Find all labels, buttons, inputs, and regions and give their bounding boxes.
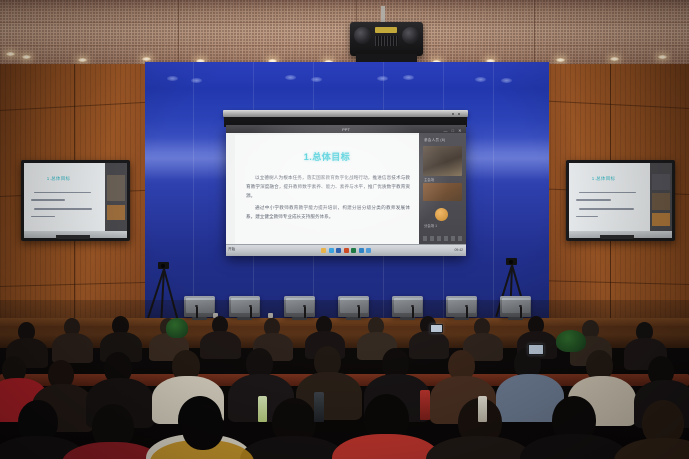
raised-phone	[528, 344, 544, 355]
participant-thumbnail[interactable]	[423, 183, 462, 201]
projection-screen-housing	[223, 110, 468, 117]
right-monitor-screen: 1.总体目标	[569, 163, 672, 238]
left-wall-monitor[interactable]: 1.总体目标	[21, 160, 130, 241]
explorer-icon[interactable]	[321, 248, 326, 253]
downlight	[6, 52, 15, 56]
word-icon[interactable]	[336, 248, 341, 253]
slide-paragraph: 以立德树人为根本任务，落实国家教育数字化战略行动，推进信息技术与教育教学深度融合…	[246, 173, 410, 200]
water-bottle	[478, 396, 487, 422]
decorative-plant	[166, 318, 188, 338]
participants-header: 参会人员 (8)	[424, 138, 445, 143]
windows-taskbar[interactable]: 开始 09:42	[226, 244, 466, 256]
downlight	[142, 57, 151, 61]
water-bottle	[258, 396, 267, 422]
slide-content-area: 1.总体目标 以立德树人为根本任务，落实国家教育数字化战略行动，推进信息技术与教…	[235, 135, 419, 245]
ceiling-projector	[350, 22, 423, 56]
projector-label	[375, 27, 397, 33]
powerpoint-icon[interactable]	[344, 248, 349, 253]
right-monitor-slide-title: 1.总体目标	[592, 176, 616, 182]
projection-screen[interactable]: PPT — □ ✕ 1.总体目标 以立德树人为根本任务，落实国家教育数字化战略行…	[226, 125, 466, 256]
ceiling-grain-texture	[0, 0, 689, 66]
downlight	[610, 57, 619, 61]
excel-icon[interactable]	[351, 248, 356, 253]
browser-icon[interactable]	[329, 248, 334, 253]
participant-avatar	[435, 208, 448, 221]
window-controls[interactable]: — □ ✕	[444, 128, 464, 133]
slide-title: 1.总体目标	[235, 150, 419, 163]
audience-shoulders	[52, 333, 93, 363]
ceiling-panel	[0, 0, 689, 66]
left-monitor-stand	[56, 235, 90, 239]
downlight	[22, 55, 31, 59]
meeting-icon[interactable]	[359, 248, 364, 253]
thermos-bottle	[314, 392, 324, 422]
thermos-bottle	[420, 390, 430, 420]
left-monitor-slide-title: 1.总体目标	[47, 176, 71, 182]
left-monitor-screen: 1.总体目标	[24, 163, 127, 238]
conference-hall-photo: 1.总体目标 1.总体目标	[0, 0, 689, 459]
start-button[interactable]: 开始	[228, 247, 235, 252]
audience-shoulders	[409, 331, 449, 359]
presentation-window-titlebar: PPT — □ ✕	[226, 125, 466, 133]
audience-head	[182, 404, 224, 450]
participant-label: 主会场	[424, 177, 434, 182]
downlight	[78, 58, 87, 62]
audience-shoulders	[200, 331, 241, 359]
right-wall-monitor[interactable]: 1.总体目标	[566, 160, 675, 241]
audience-area	[0, 300, 689, 459]
downlight	[556, 58, 565, 62]
decorative-plant	[556, 330, 586, 352]
folder-icon[interactable]	[366, 248, 371, 253]
video-controls-bar[interactable]	[423, 236, 462, 241]
video-conference-panel[interactable]: 参会人员 (8) 主会场 分会场 1	[419, 133, 466, 245]
slide-body: 以立德树人为根本任务，落实国家教育数字化战略行动，推进信息技术与教育教学深度融合…	[246, 173, 410, 224]
raised-phone	[430, 324, 443, 333]
projector-vents	[375, 36, 398, 46]
window-title: PPT	[342, 127, 350, 132]
participant-label: 分会场 1	[424, 223, 437, 228]
taskbar-clock: 09:42	[455, 248, 464, 252]
downlight	[658, 55, 667, 59]
taskbar-icon-group[interactable]	[321, 248, 371, 253]
participant-thumbnail[interactable]	[423, 146, 462, 176]
slide-paragraph: 通过中小学教师教育教学能力提升培训，构建分层分级分类的教师发展体系，建立健全教师…	[246, 203, 410, 221]
right-monitor-stand	[600, 235, 634, 239]
